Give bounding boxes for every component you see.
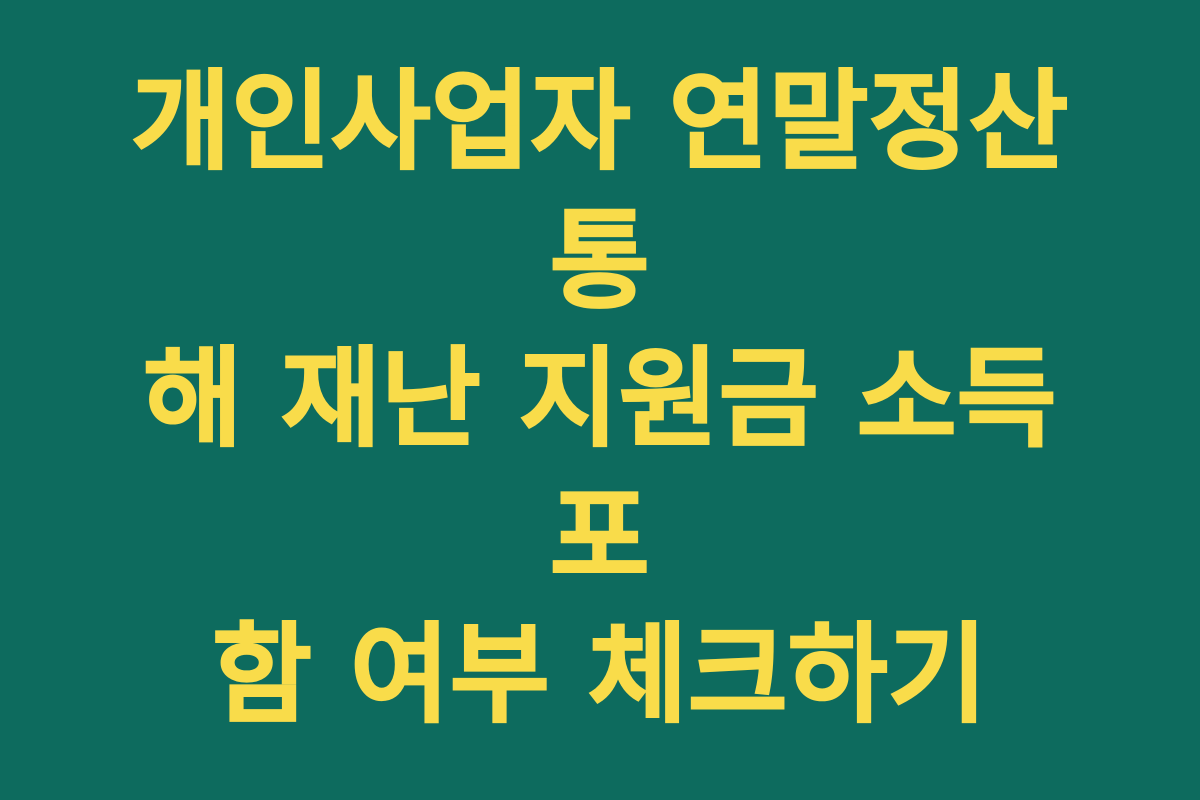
banner-canvas: 개인사업자 연말정산 통 해 재난 지원금 소득 포 함 여부 체크하기 — [0, 0, 1200, 800]
page-title: 개인사업자 연말정산 통 해 재난 지원금 소득 포 함 여부 체크하기 — [95, 54, 1105, 745]
headline-block: 개인사업자 연말정산 통 해 재난 지원금 소득 포 함 여부 체크하기 — [95, 54, 1105, 745]
